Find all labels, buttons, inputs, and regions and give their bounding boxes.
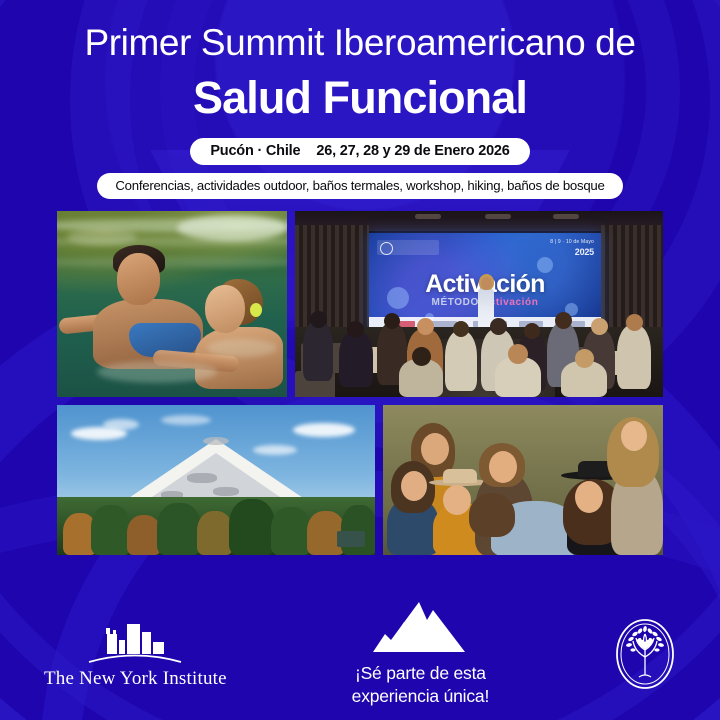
tree-emblem-icon: [614, 617, 676, 691]
photo-thermal-baths: [57, 211, 287, 397]
photo-villarrica-volcano: [57, 405, 375, 555]
photo-friends-group: [383, 405, 663, 555]
gallery-row-top: 8 | 9 · 10 de Mayo 2025 Activación MÉTOD…: [57, 211, 663, 397]
page-title-line2: Salud Funcional: [0, 71, 720, 125]
location-label: Pucón · Chile: [210, 143, 300, 159]
photo-conference-hall: 8 | 9 · 10 de Mayo 2025 Activación MÉTOD…: [295, 211, 663, 397]
mountain-icon: [361, 600, 479, 656]
features-badge: Conferencias, actividades outdoor, baños…: [97, 173, 622, 199]
poster-footer: The New York Institute ¡Sé parte de esta…: [0, 588, 720, 720]
screen-date: 8 | 9 · 10 de Mayo 2025: [550, 239, 594, 260]
cta-block: ¡Sé parte de esta experiencia única!: [352, 600, 489, 708]
cta-text: ¡Sé parte de esta experiencia única!: [352, 662, 489, 708]
emblem-block: [614, 617, 676, 691]
screen-event-logo: [377, 240, 439, 255]
features-pill-row: Conferencias, actividades outdoor, baños…: [0, 173, 720, 199]
page-title-line1: Primer Summit Iberoamericano de: [0, 22, 720, 65]
date-pill-row: Pucón · Chile 26, 27, 28 y 29 de Enero 2…: [0, 138, 720, 165]
partner-name: The New York Institute: [44, 668, 227, 690]
cta-line1: ¡Sé parte de esta: [352, 662, 489, 685]
partner-logo-block: The New York Institute: [44, 618, 227, 690]
dates-label: 26, 27, 28 y 29 de Enero 2026: [316, 143, 509, 159]
poster-header: Primer Summit Iberoamericano de Salud Fu…: [0, 0, 720, 199]
photo-gallery: 8 | 9 · 10 de Mayo 2025 Activación MÉTOD…: [57, 211, 663, 555]
cta-line2: experiencia única!: [352, 685, 489, 708]
gallery-row-bottom: [57, 405, 663, 555]
nyi-skyline-icon: [79, 618, 191, 664]
location-date-badge: Pucón · Chile 26, 27, 28 y 29 de Enero 2…: [190, 138, 529, 165]
